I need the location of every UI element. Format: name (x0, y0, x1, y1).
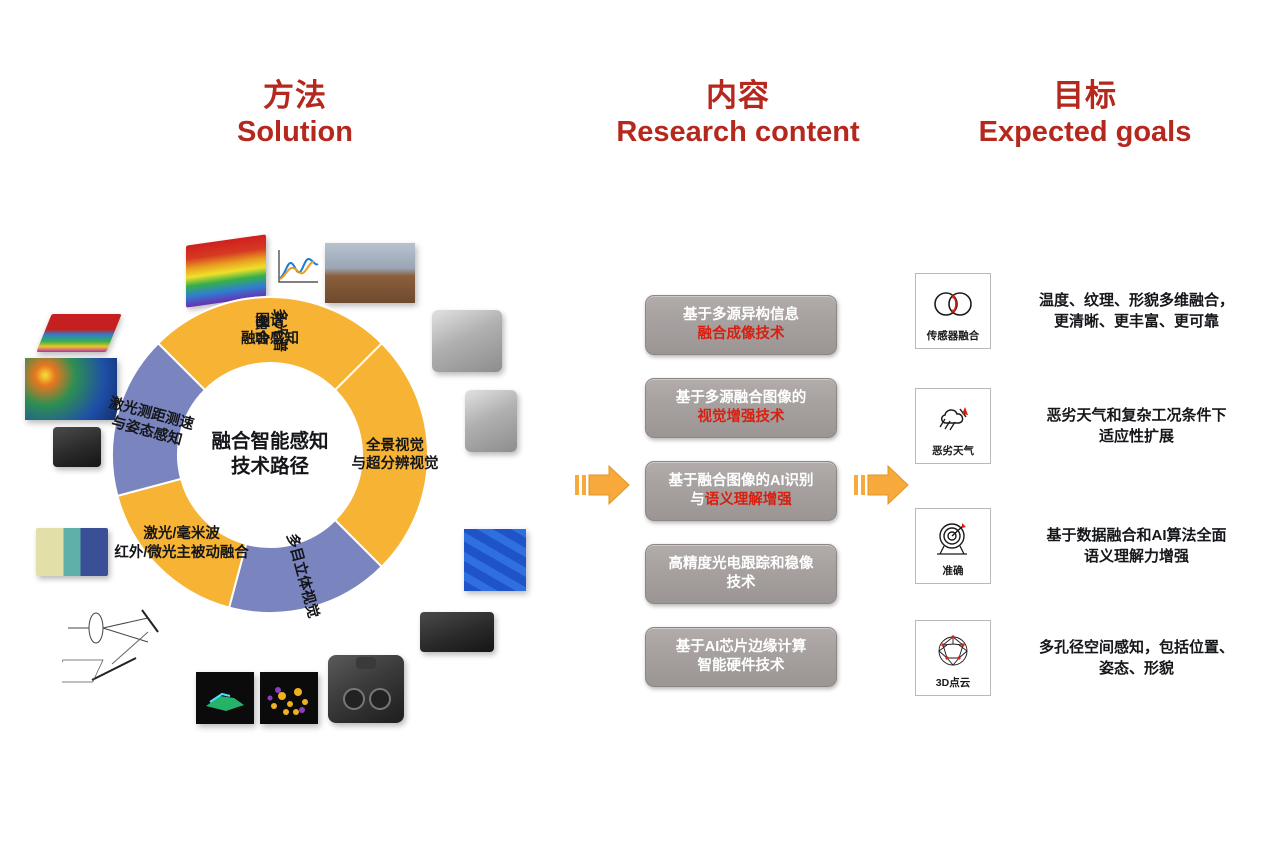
research-content-box[interactable]: 高精度光电跟踪和稳像技术 (645, 544, 837, 604)
column-header-content-en: Research content (598, 115, 878, 149)
thermal-camera-photo (53, 427, 101, 467)
laser-module-diagram (36, 528, 108, 576)
research-content-line1: 基于多源融合图像的 (676, 389, 807, 408)
column-header-content: 内容 Research content (598, 78, 878, 149)
research-content-line2: 与语义理解增强 (690, 491, 792, 510)
research-content-line1: 基于AI芯片边缘计算 (676, 638, 807, 657)
donut-segment[interactable] (117, 479, 246, 608)
donut-segment[interactable] (158, 297, 381, 390)
arrow-solution-to-content (573, 462, 633, 508)
stereo-depth-map-thumb (464, 529, 526, 591)
research-content-box[interactable]: 基于多源异构信息融合成像技术 (645, 295, 837, 355)
research-content-line2: 技术 (727, 574, 756, 593)
goal-description: 恶劣天气和复杂工况条件下 适应性扩展 (1019, 405, 1254, 448)
research-content-box[interactable]: 基于融合图像的AI识别与语义理解增强 (645, 461, 837, 521)
spectrum-plot-thumb (272, 246, 320, 290)
point-cloud-icon (933, 627, 973, 675)
goal-icon-caption: 准确 (943, 563, 964, 583)
research-content-line1: 基于多源异构信息 (683, 306, 799, 325)
eo-turret-photo (328, 655, 404, 723)
goal-icon-box[interactable]: 恶劣天气 (915, 388, 991, 464)
expected-goal-row: 3D点云多孔径空间感知，包括位置、 姿态、形貌 (915, 620, 1254, 696)
research-content-line2: 视觉增强技术 (698, 408, 785, 427)
industrial-pipes-photo (325, 243, 415, 303)
column-header-goals-en: Expected goals (945, 115, 1225, 149)
research-content-line2-prefix: 与 (690, 492, 705, 508)
column-header-goals-cn: 目标 (945, 78, 1225, 115)
column-header-solution-cn: 方法 (195, 78, 395, 115)
column-header-goals: 目标 Expected goals (945, 78, 1225, 149)
column-header-content-cn: 内容 (598, 78, 878, 115)
expected-goal-row: 传感器融合温度、纹理、形貌多维融合， 更清晰、更丰富、更可靠 (915, 273, 1254, 349)
point-cloud-scan-thumb (260, 672, 318, 724)
lidar-scan-thumb (196, 672, 254, 724)
arrow-content-to-goals (852, 462, 912, 508)
goal-icon-box[interactable]: 传感器融合 (915, 273, 991, 349)
research-content-box[interactable]: 基于AI芯片边缘计算智能硬件技术 (645, 627, 837, 687)
research-content-line2-highlight: 语义理解增强 (705, 492, 792, 508)
expected-goal-row: 准确基于数据融合和AI算法全面 语义理解力增强 (915, 508, 1254, 584)
goal-icon-caption: 传感器融合 (927, 328, 980, 348)
scanner-device-photo (465, 390, 517, 452)
column-header-solution: 方法 Solution (195, 78, 395, 149)
research-content-line2: 融合成像技术 (698, 325, 785, 344)
bad-weather-icon (932, 395, 974, 443)
research-content-line2: 智能硬件技术 (698, 657, 785, 676)
expected-goal-row: 恶劣天气恶劣天气和复杂工况条件下 适应性扩展 (915, 388, 1254, 464)
goal-icon-box[interactable]: 准确 (915, 508, 991, 584)
research-content-line1: 基于融合图像的AI识别 (669, 472, 814, 491)
donut-center-label: 融合智能感知 技术路径 (211, 430, 328, 481)
goal-description: 温度、纹理、形貌多维融合， 更清晰、更丰富、更可靠 (1019, 290, 1254, 333)
target-icon (932, 515, 974, 563)
goal-description: 基于数据融合和AI算法全面 语义理解力增强 (1019, 525, 1254, 568)
goal-description: 多孔径空间感知，包括位置、 姿态、形貌 (1019, 637, 1254, 680)
goal-icon-caption: 3D点云 (936, 675, 970, 695)
column-header-solution-en: Solution (195, 115, 395, 149)
spectral-stack-thumb (36, 314, 121, 352)
panoramic-camera-photo (432, 310, 502, 372)
research-content-box[interactable]: 基于多源融合图像的视觉增强技术 (645, 378, 837, 438)
research-content-line1: 高精度光电跟踪和稳像 (669, 555, 814, 574)
thermal-image-thumb (25, 358, 117, 420)
goal-icon-box[interactable]: 3D点云 (915, 620, 991, 696)
stereo-camera-photo (420, 612, 494, 652)
goal-icon-caption: 恶劣天气 (932, 443, 974, 463)
optical-path-diagram (62, 602, 170, 690)
solution-donut-chart: 融合智能感知 技术路径 图谱 融合感知全景视觉 与超分辨视觉多目立体视觉激光/毫… (110, 295, 430, 615)
sensor-fusion-icon (932, 280, 974, 328)
